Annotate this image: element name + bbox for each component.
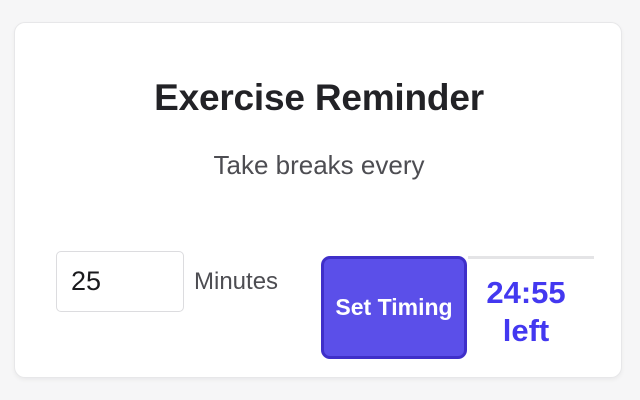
page-title: Exercise Reminder bbox=[15, 77, 623, 119]
exercise-reminder-card: Exercise Reminder Take breaks every Minu… bbox=[14, 22, 622, 378]
set-timing-button[interactable]: Set Timing bbox=[321, 256, 467, 359]
timer-divider bbox=[468, 256, 594, 259]
minutes-input[interactable] bbox=[56, 251, 184, 312]
minutes-label: Minutes bbox=[194, 268, 278, 296]
controls-row: Minutes Set Timing 24:55 left bbox=[15, 223, 623, 353]
timer-block: 24:55 left bbox=[467, 256, 597, 359]
subtitle-text: Take breaks every bbox=[15, 150, 623, 181]
timer-remaining-label: 24:55 left bbox=[467, 274, 585, 350]
